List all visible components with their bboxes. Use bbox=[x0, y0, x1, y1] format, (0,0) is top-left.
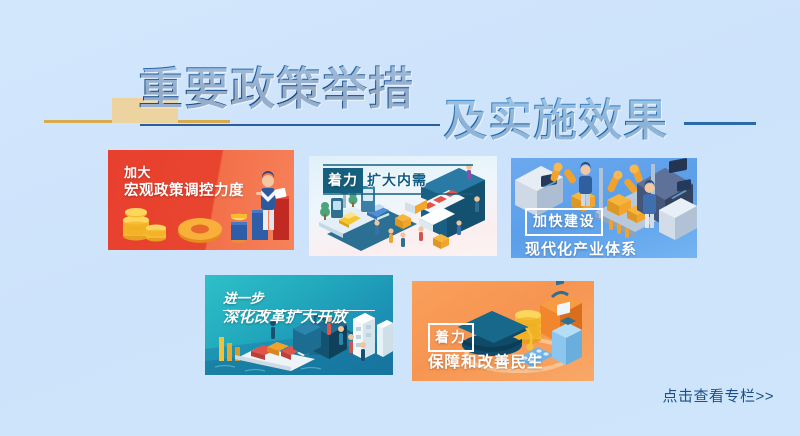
card3-caption: 加快建设 现代化产业体系 bbox=[525, 208, 637, 258]
card4-line-2: 深化改革扩大开放 bbox=[223, 308, 347, 327]
policy-card-safeguard-improve-livelihood[interactable]: 着力 保障和改善民生 bbox=[412, 281, 594, 381]
card2-caption: 着力扩大内需 bbox=[323, 168, 427, 193]
card3-line-2: 现代化产业体系 bbox=[525, 239, 637, 258]
card1-caption: 加大 宏观政策调控力度 bbox=[124, 164, 244, 200]
title-trailing-rule bbox=[684, 122, 756, 125]
policy-card-modern-industrial-system[interactable]: 加快建设 现代化产业体系 bbox=[511, 158, 697, 258]
card5-line-2: 保障和改善民生 bbox=[428, 352, 544, 374]
card5-caption: 着力 保障和改善民生 bbox=[428, 323, 544, 374]
banner-title-area: 重要政策举措 及实施效果 bbox=[0, 24, 800, 136]
view-column-link[interactable]: 点击查看专栏>> bbox=[662, 385, 774, 406]
page-title-line-2: 及实施效果 bbox=[443, 96, 668, 146]
page-title-line-1: 重要政策举措 bbox=[138, 64, 414, 114]
card3-line-1: 加快建设 bbox=[525, 208, 603, 236]
policy-card-expand-domestic-demand[interactable]: 着力扩大内需 bbox=[309, 156, 497, 256]
card5-line-1: 着力 bbox=[428, 323, 474, 352]
title-underline-rule bbox=[140, 124, 440, 126]
card1-line-2: 宏观政策调控力度 bbox=[124, 182, 244, 200]
policy-card-macro-policy[interactable]: 加大 宏观政策调控力度 bbox=[108, 150, 294, 250]
card1-line-1: 加大 bbox=[124, 164, 244, 182]
policy-banner: 重要政策举措 及实施效果 bbox=[0, 0, 800, 436]
card2-line-2: 扩大内需 bbox=[367, 172, 427, 188]
card2-rule-top bbox=[323, 164, 473, 166]
card4-line-1: 进一步 bbox=[223, 289, 347, 308]
card5-line-1-wrap: 着力 bbox=[428, 323, 544, 352]
card2-line-1: 着力 bbox=[323, 168, 363, 193]
card2-rule-bottom bbox=[323, 193, 473, 195]
policy-card-deepen-reform-opening-up[interactable]: 进一步 深化改革扩大开放 bbox=[205, 275, 393, 375]
card3-line-1-wrap: 加快建设 bbox=[525, 208, 637, 236]
card4-caption: 进一步 深化改革扩大开放 bbox=[223, 289, 347, 327]
